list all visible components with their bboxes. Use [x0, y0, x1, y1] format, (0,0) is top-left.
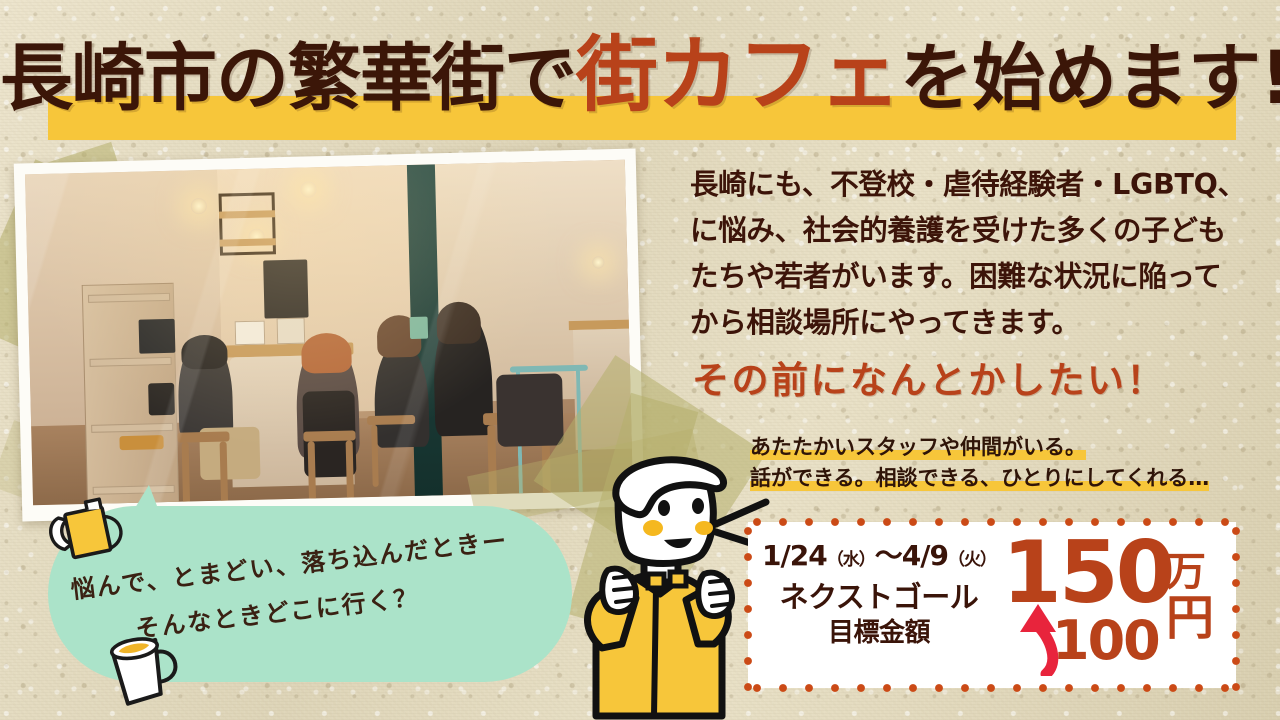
sub-lines: あたたかいスタッフや仲間がいる。 話ができる。相談できる、ひとりにしてくれる… — [750, 432, 1270, 494]
goal-panel: 1/24（水）～4/9（火） ネクストゴール 目標金額 150 万 円 100 — [748, 522, 1236, 688]
body-copy: 長崎にも、不登校・虐待経験者・LGBTQ、 に悩み、社会的養護を受けた多くの子ど… — [690, 162, 1250, 346]
title-part2: を始めます! — [900, 36, 1280, 121]
dotted-border-left — [743, 518, 753, 692]
body-line-3: たちや若者がいます。困難な状況に陥って — [690, 254, 1250, 300]
next-goal-label: ネクストゴール — [754, 578, 1004, 616]
goal-old-amount: 100 — [1052, 614, 1159, 668]
goal-date-from: 1/24 — [762, 539, 827, 572]
goal-date-range: 1/24（水）～4/9（火） — [754, 538, 1004, 578]
goal-date-to: 4/9 — [902, 539, 948, 572]
sub-line-1: あたたかいスタッフや仲間がいる。 — [750, 435, 1086, 460]
title-accent: 街カフェ — [576, 28, 900, 123]
curved-up-arrow-icon — [1016, 602, 1068, 676]
title-text: 長崎市の繁華街で街カフェを始めます! — [0, 24, 1280, 131]
body-line-2: に悩み、社会的養護を受けた多くの子ども — [690, 208, 1250, 254]
sub-line-2: 話ができる。相談できる、ひとりにしてくれる… — [750, 466, 1209, 491]
poster-canvas: 長崎市の繁華街で街カフェを始めます! 長崎にも、不登校・虐待経験者・LGBTQ、… — [0, 0, 1280, 720]
kettle-icon — [46, 494, 132, 572]
tagline: その前になんとかしたい！ — [692, 358, 1252, 404]
body-line-1: 長崎にも、不登校・虐待経験者・LGBTQ、 — [690, 162, 1250, 208]
goal-unit-man: 万 — [1166, 552, 1206, 592]
page-title: 長崎市の繁華街で街カフェを始めます! — [0, 24, 1280, 146]
goal-weekday-to: （火） — [948, 550, 996, 570]
goal-range-sep: ～ — [875, 539, 902, 572]
goal-amount-label: 目標金額 — [754, 616, 1004, 650]
goal-weekday-from: （水） — [827, 550, 875, 570]
body-line-4: から相談場所にやってきます。 — [690, 300, 1250, 346]
goal-right-column: 150 万 円 100 — [998, 526, 1236, 686]
mug-icon — [98, 626, 194, 710]
goal-left-column: 1/24（水）～4/9（火） ネクストゴール 目標金額 — [754, 538, 1004, 650]
goal-unit-en: 円 — [1166, 594, 1214, 642]
title-part1: 長崎市の繁華街で — [0, 36, 576, 121]
photo-image — [25, 160, 633, 506]
